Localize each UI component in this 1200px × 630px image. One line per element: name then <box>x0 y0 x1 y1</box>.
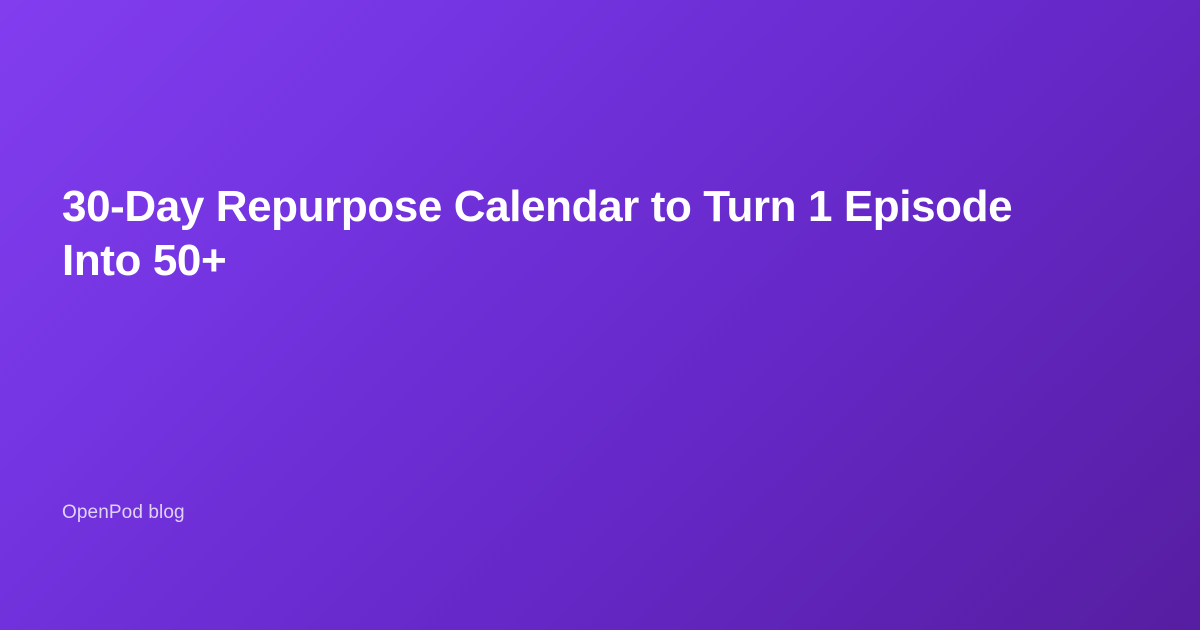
site-label: OpenPod blog <box>62 500 185 526</box>
open-graph-card: 30-Day Repurpose Calendar to Turn 1 Epis… <box>0 0 1200 630</box>
gradient-sheen-overlay <box>0 0 1200 630</box>
page-title: 30-Day Repurpose Calendar to Turn 1 Epis… <box>62 180 1092 288</box>
